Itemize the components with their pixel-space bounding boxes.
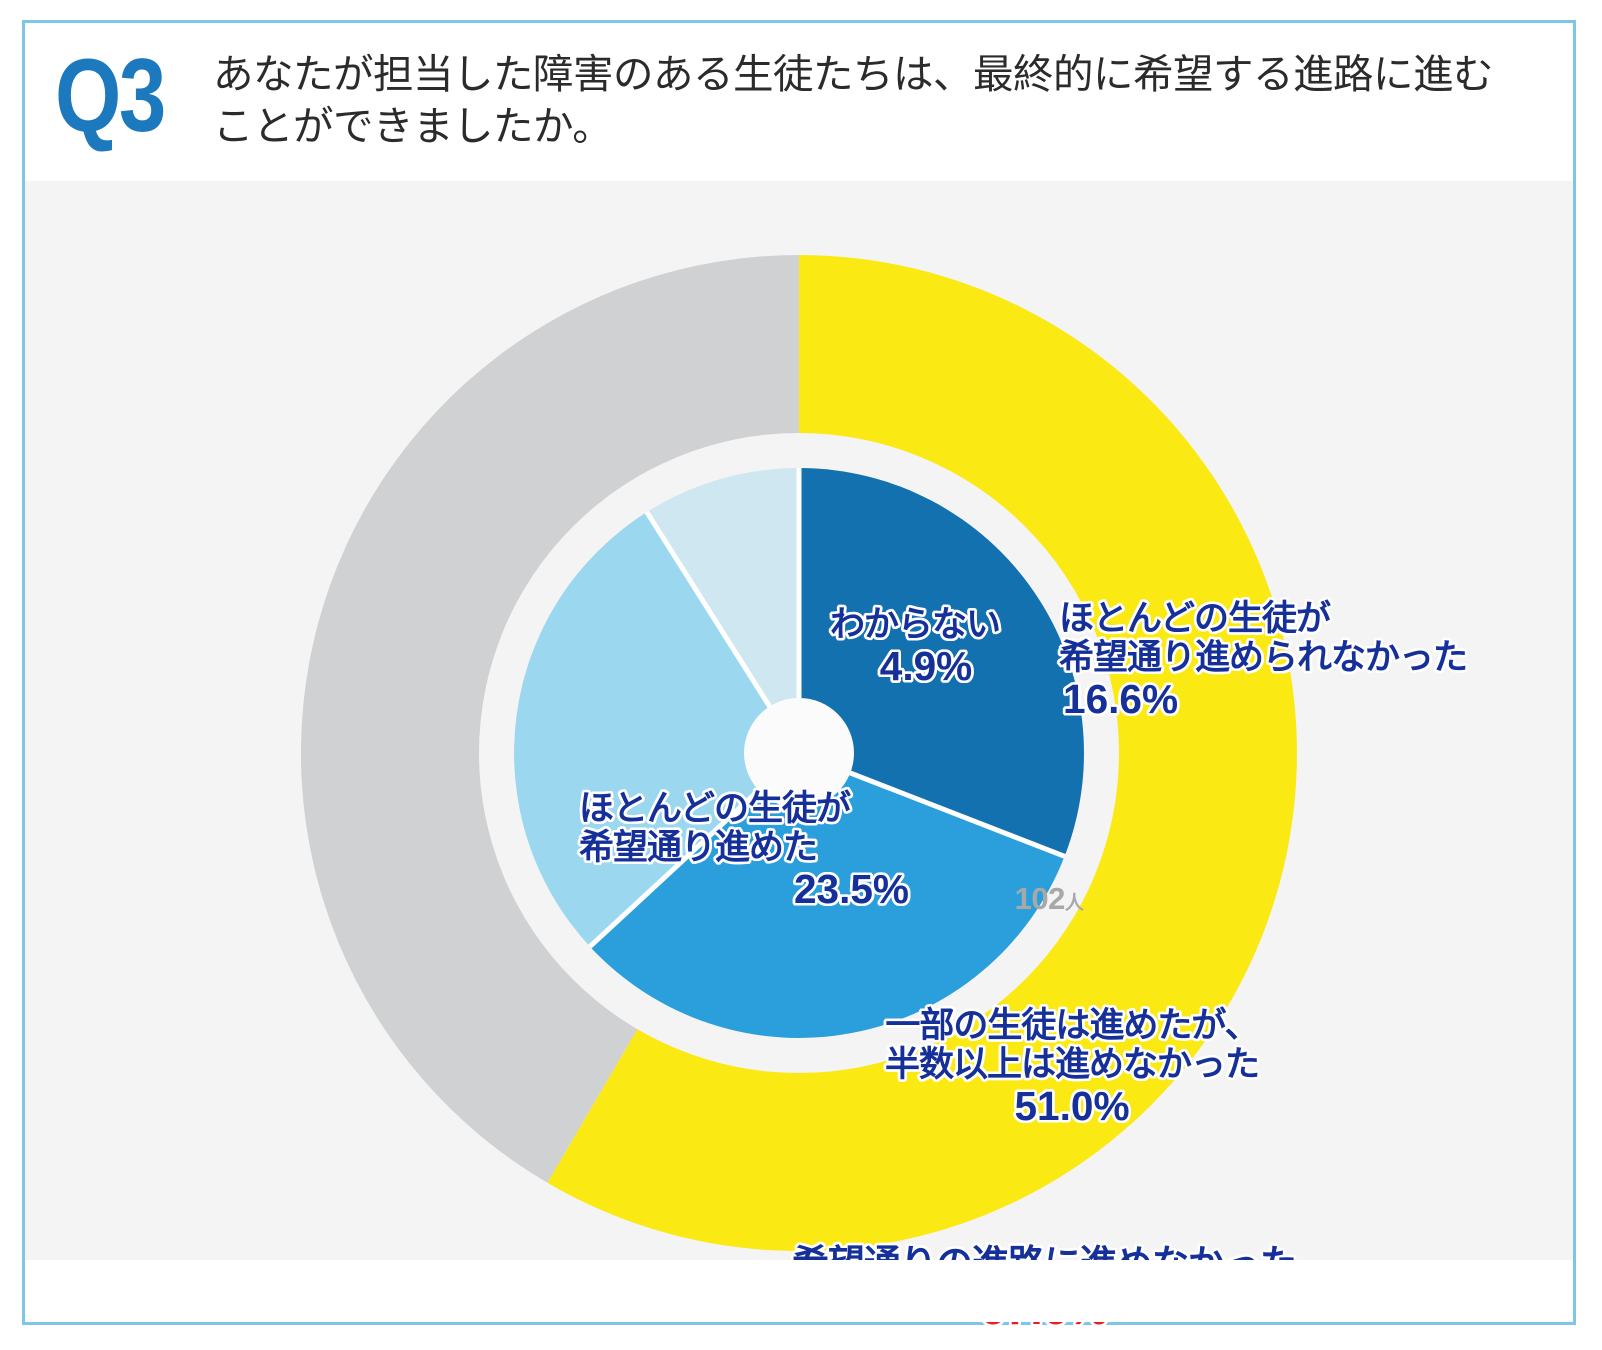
infographic-page: Q3 あなたが担当した障害のある生徒たちは、最終的に希望する進路に進むことができ… — [0, 0, 1602, 1350]
question-number: Q3 — [55, 49, 178, 145]
center-count: 102 — [1015, 881, 1065, 916]
donut-chart: 102人 ほとんどの生徒が希望通り進められなかった16.6% 一部の生徒は進めた… — [249, 181, 1349, 1266]
label-line2: 半数以上は進めなかった — [885, 1045, 1259, 1084]
label-some-could: 一部の生徒は進めたが、半数以上は進めなかった51.0% — [857, 1006, 1287, 1130]
content-frame: Q3 あなたが担当した障害のある生徒たちは、最終的に希望する進路に進むことができ… — [22, 20, 1576, 1325]
label-line1: わからない — [830, 605, 1000, 644]
label-percent: 51.0% — [857, 1084, 1287, 1129]
question-text: あなたが担当した障害のある生徒たちは、最終的に希望する進路に進むことができました… — [213, 49, 1503, 153]
label-percent: 23.5% — [579, 867, 909, 912]
label-line2: 希望通り進められなかった — [1059, 638, 1467, 677]
label-unknown: わからない4.9% — [815, 605, 1015, 690]
center-total: 102人 — [982, 881, 1116, 917]
label-could-not-mostly: ほとんどの生徒が希望通り進められなかった16.6% — [1059, 599, 1467, 723]
label-percent: 4.9% — [815, 644, 1015, 689]
center-unit: 人 — [1065, 893, 1084, 914]
footer-spacer — [25, 1260, 1573, 1322]
label-line1: ほとんどの生徒が — [1059, 599, 1330, 638]
label-line1: ほとんどの生徒が — [579, 789, 850, 828]
question-header: Q3 あなたが担当した障害のある生徒たちは、最終的に希望する進路に進むことができ… — [25, 23, 1573, 181]
label-line2: 希望通り進めた — [579, 828, 817, 867]
label-mostly-could: ほとんどの生徒が希望通り進めた23.5% — [579, 789, 909, 913]
inner-pie — [514, 468, 1084, 1038]
label-line1: 一部の生徒は進めたが、 — [885, 1006, 1258, 1045]
label-percent: 16.6% — [1059, 677, 1467, 722]
chart-area: 102人 ほとんどの生徒が希望通り進められなかった16.6% 一部の生徒は進めた… — [25, 181, 1573, 1260]
